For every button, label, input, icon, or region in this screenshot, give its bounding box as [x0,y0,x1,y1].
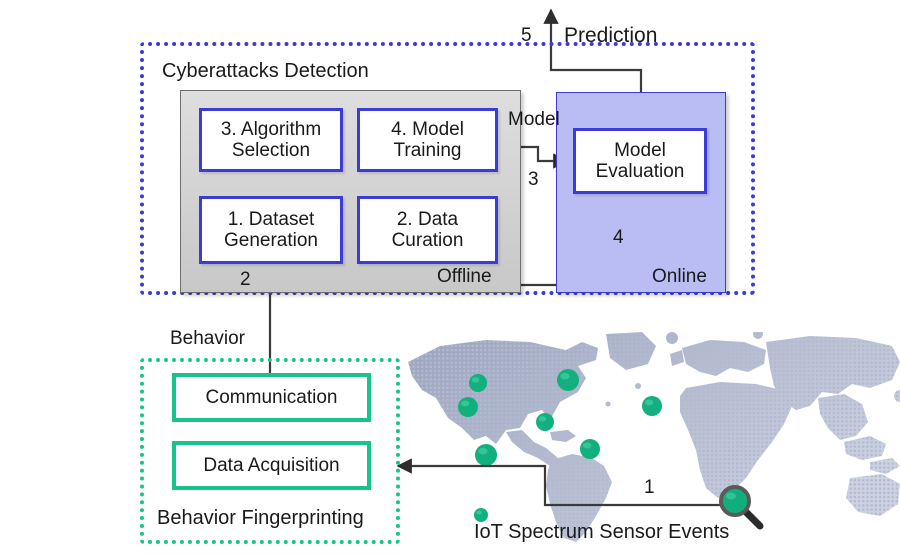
cyberattacks-detection-label: Cyberattacks Detection [162,61,369,81]
flow-label-1: 1 [644,478,655,497]
offline-label: Offline [437,267,492,286]
box-algorithm-selection-line2: Selection [232,140,310,161]
box-model-evaluation[interactable]: Model Evaluation [573,128,707,194]
box-model-training-line2: Training [394,140,462,161]
box-dataset-generation-line1: 1. Dataset [228,209,315,230]
iot-sensor-events-caption: IoT Spectrum Sensor Events [474,522,729,542]
box-data-curation-line1: 2. Data [397,209,458,230]
box-dataset-generation-line2: Generation [224,230,318,251]
flow-arrow-sensor-events [398,466,740,505]
behavior-label: Behavior [170,329,245,348]
box-data-acquisition[interactable]: Data Acquisition [172,441,371,490]
box-algorithm-selection[interactable]: 3. Algorithm Selection [199,108,343,172]
box-data-acquisition-label: Data Acquisition [203,455,339,476]
box-model-evaluation-line1: Model [614,140,666,161]
box-dataset-generation[interactable]: 1. Dataset Generation [199,196,343,264]
flow-label-5: 5 [521,26,532,45]
box-model-evaluation-line2: Evaluation [596,161,685,182]
flow-label-prediction: Prediction [564,25,657,46]
behavior-fingerprinting-label: Behavior Fingerprinting [157,508,364,528]
box-communication-label: Communication [206,387,338,408]
flow-label-model: Model [508,110,560,129]
box-communication[interactable]: Communication [172,373,371,422]
flow-label-4: 4 [613,228,624,247]
box-data-curation-line2: Curation [392,230,464,251]
flow-label-3: 3 [528,170,539,189]
box-model-training-line1: 4. Model [391,119,464,140]
flow-label-2: 2 [240,270,251,289]
diagram-canvas: Cyberattacks Detection 3. Algorithm Sele… [0,0,900,560]
box-algorithm-selection-line1: 3. Algorithm [221,119,321,140]
box-model-training[interactable]: 4. Model Training [357,108,498,172]
online-label: Online [652,267,707,286]
box-data-curation[interactable]: 2. Data Curation [357,196,498,264]
